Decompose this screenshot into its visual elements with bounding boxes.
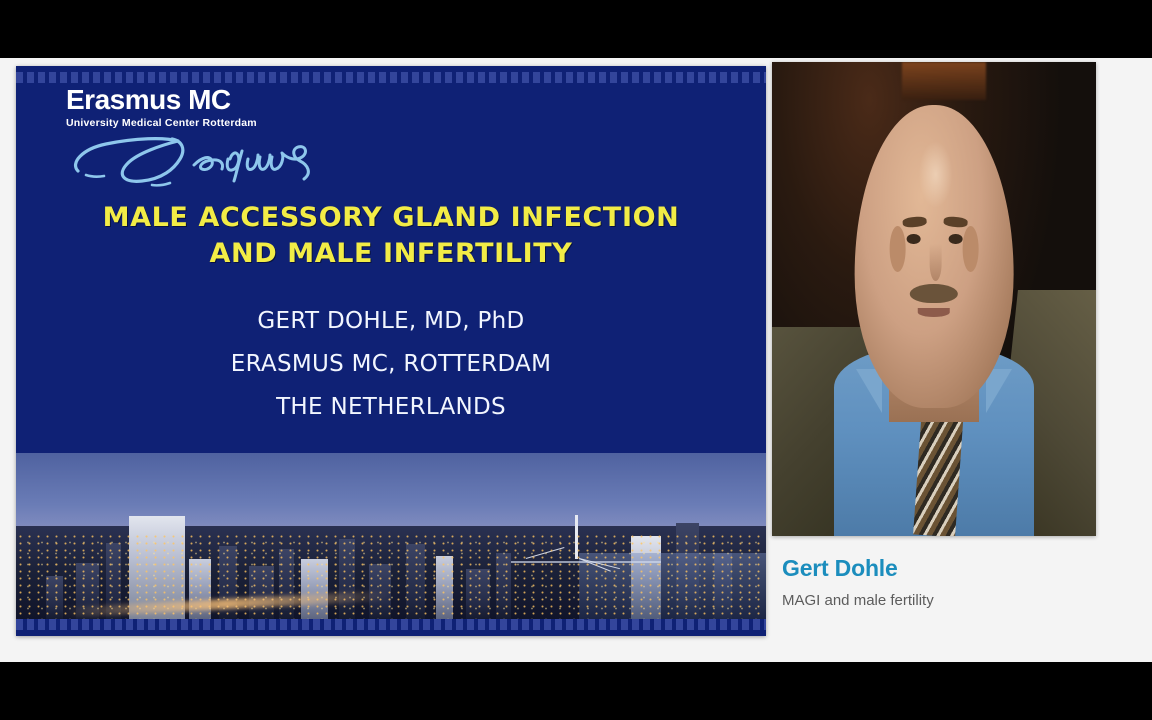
mustache: [910, 284, 958, 304]
eye-right: [949, 234, 962, 244]
forehead-highlight: [918, 141, 953, 208]
nose: [929, 244, 942, 280]
logo-wordmark: Erasmus MC: [66, 86, 396, 114]
speaker-name[interactable]: Gert Dohle: [782, 556, 1088, 581]
slide-title: MALE ACCESSORY GLAND INFECTION AND MALE …: [16, 200, 766, 272]
letterbox-bar-bottom: [0, 662, 1152, 720]
rotterdam-skyline-photo: [16, 453, 766, 619]
slide-byline-country: THE NETHERLANDS: [16, 386, 766, 429]
ear-right: [963, 226, 979, 272]
presentation-stage: Erasmus MC University Medical Center Rot…: [0, 58, 1152, 662]
slide-byline: GERT DOHLE, MD, PhD ERASMUS MC, ROTTERDA…: [16, 300, 766, 428]
portrait-background-light: [902, 62, 986, 100]
logo-subtitle: University Medical Center Rotterdam: [66, 117, 396, 129]
eyebrow-right: [943, 216, 968, 228]
speaker-portrait-photo[interactable]: [772, 62, 1096, 536]
presentation-slide[interactable]: Erasmus MC University Medical Center Rot…: [16, 66, 766, 636]
eye-left: [907, 234, 920, 244]
slide-title-line-2: AND MALE INFERTILITY: [32, 236, 750, 272]
letterbox-bar-top: [0, 0, 1152, 58]
eyebrow-left: [902, 216, 927, 228]
slide-byline-institution: ERASMUS MC, ROTTERDAM: [16, 343, 766, 386]
slide-title-line-1: MALE ACCESSORY GLAND INFECTION: [32, 200, 750, 236]
talk-title: MAGI and male fertility: [782, 592, 1088, 610]
shirt-collar-right: [986, 369, 1012, 413]
ear-left: [890, 226, 906, 272]
video-player-viewer: Erasmus MC University Medical Center Rot…: [0, 0, 1152, 720]
film-strip-border-top: [16, 72, 766, 83]
film-strip-border-bottom: [16, 619, 766, 630]
slide-byline-author: GERT DOHLE, MD, PhD: [16, 300, 766, 343]
erasmus-signature-icon: [66, 131, 331, 187]
erasmus-mc-logo: Erasmus MC University Medical Center Rot…: [66, 86, 396, 192]
speaker-caption: Gert Dohle MAGI and male fertility: [772, 536, 1096, 610]
mouth: [918, 308, 950, 317]
speaker-panel: Gert Dohle MAGI and male fertility: [772, 62, 1096, 632]
